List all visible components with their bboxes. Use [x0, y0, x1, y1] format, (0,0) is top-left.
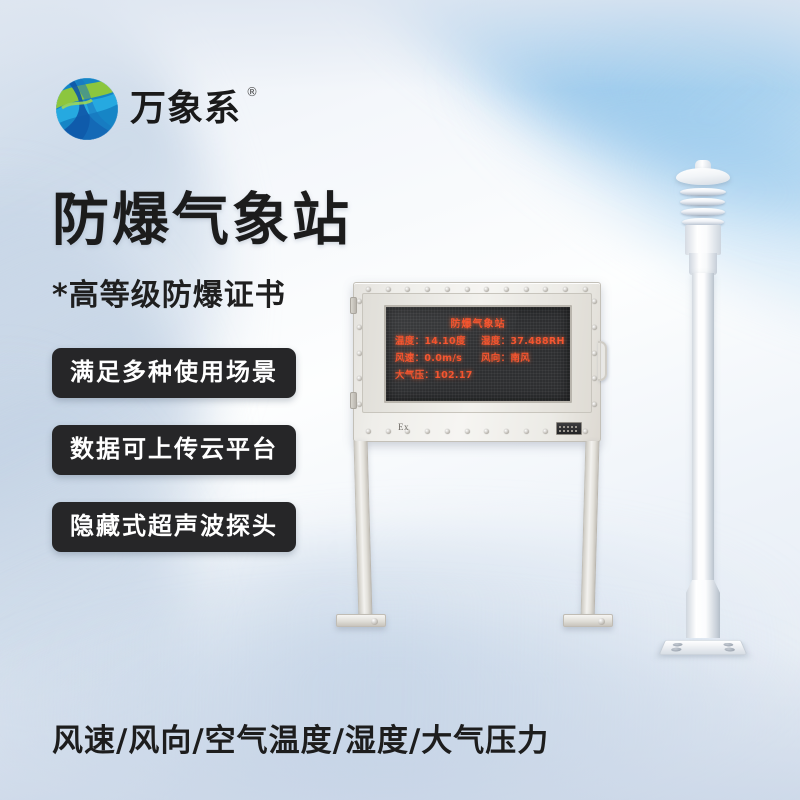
reading-wind-speed: 风速：0.0m/s	[395, 350, 479, 364]
mast-pole	[692, 273, 714, 625]
reading-temperature: 温度：14.10度	[395, 333, 479, 347]
brand-name: 万象系	[130, 88, 241, 129]
registered-trademark-icon: ®	[246, 85, 258, 99]
mast-flange-base	[658, 640, 747, 655]
ex-marking-label: Ex	[398, 422, 409, 432]
radiation-shield-plate-1	[680, 188, 726, 196]
radiation-shield-plate-2	[680, 198, 725, 206]
sensor-top-cap	[676, 168, 730, 185]
led-readings-grid: 温度：14.10度 湿度：37.488RH 风速：0.0m/s 风向：南风 大气…	[395, 333, 565, 381]
feature-badge-2: 数据可上传云平台	[52, 425, 296, 475]
brand-logo: 万象系 ®	[56, 78, 241, 140]
stand-leg-right	[581, 441, 600, 618]
bolt-row-top	[366, 287, 588, 292]
reading-humidity: 湿度：37.488RH	[481, 333, 565, 347]
feature-badge-1: 满足多种使用场景	[52, 348, 296, 398]
feature-badge-3: 隐藏式超声波探头	[52, 502, 296, 552]
mast-pole-flare	[686, 580, 720, 638]
weather-sensor-mast	[648, 148, 758, 678]
feature-list: 满足多种使用场景 数据可上传云平台 隐藏式超声波探头	[52, 348, 296, 552]
stand-foot-left	[336, 614, 386, 627]
stand-foot-right	[563, 614, 613, 627]
explosion-proof-cabinet: 防爆气象站 温度：14.10度 湿度：37.488RH 风速：0.0m/s 风向…	[353, 282, 601, 442]
page-subtitle: *高等级防爆证书	[52, 281, 286, 311]
product-illustration: 防爆气象站 温度：14.10度 湿度：37.488RH 风速：0.0m/s 风向…	[318, 120, 788, 680]
globe-swirl-logo-icon	[56, 78, 118, 140]
background-vignette-top	[0, 0, 800, 90]
reading-wind-direction: 风向：南风	[481, 350, 565, 364]
cabinet-handle[interactable]	[598, 341, 607, 381]
hinge-top-icon	[350, 297, 357, 314]
stand-leg-left	[354, 441, 373, 618]
bolt-row-right	[592, 299, 597, 407]
radiation-shield-plate-3	[681, 208, 725, 216]
sensor-body	[685, 225, 721, 255]
nameplate-badge	[556, 422, 582, 435]
feature-caption: 风速/风向/空气温度/湿度/大气压力	[52, 726, 549, 757]
led-display-screen: 防爆气象站 温度：14.10度 湿度：37.488RH 风速：0.0m/s 风向…	[384, 305, 572, 403]
hinge-bottom-icon	[350, 392, 357, 409]
led-display-title: 防爆气象站	[386, 315, 570, 330]
reading-air-pressure: 大气压：102.17	[395, 367, 565, 381]
page-title: 防爆气象站	[52, 192, 352, 249]
sensor-neck	[689, 253, 717, 275]
poster-canvas: 万象系 ® 防爆气象站 *高等级防爆证书 满足多种使用场景 数据可上传云平台 隐…	[0, 0, 800, 800]
